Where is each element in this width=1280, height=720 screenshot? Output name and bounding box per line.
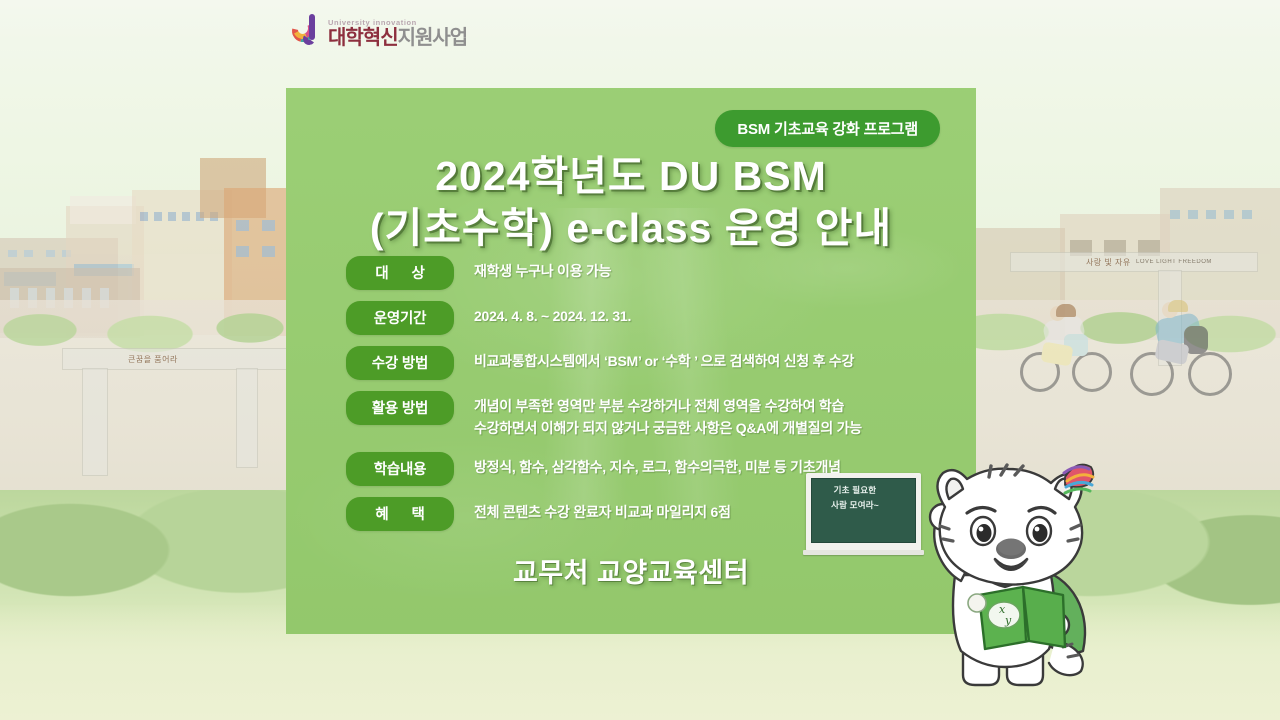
info-row: 활용 방법 개념이 부족한 영역만 부분 수강하거나 전체 영역을 수강하여 학… bbox=[346, 391, 962, 439]
blackboard-line-1: 기초 필요한 bbox=[815, 483, 895, 498]
info-row-value: 비교과통합시스템에서 ‘BSM’ or ‘수학 ’ 으로 검색하여 신청 후 수… bbox=[454, 346, 962, 373]
cyclist-right bbox=[1130, 298, 1240, 398]
book-label-y: y bbox=[1004, 614, 1012, 627]
title-line-2: (기초수학) e-class 운영 안내 bbox=[286, 202, 976, 254]
university-innovation-logo: University innovation 대학혁신지원사업 bbox=[292, 14, 467, 48]
left-gate-pillar bbox=[82, 368, 108, 476]
right-gate-sign-ko: 사랑 빛 자유 bbox=[1086, 257, 1131, 268]
info-row-value-line: 수강하면서 이해가 되지 않거나 궁금한 사항은 Q&A에 개별질의 가능 bbox=[474, 418, 962, 440]
program-badge: BSM 기초교육 강화 프로그램 bbox=[715, 110, 940, 147]
info-row-label: 수강 방법 bbox=[346, 346, 454, 380]
mascot-book: x y bbox=[979, 587, 1065, 649]
blackboard: 기초 필요한 사람 모여라~ bbox=[806, 473, 921, 551]
info-row-label: 대 상 bbox=[346, 256, 454, 290]
left-gate-sign: 큰꿈을 품어라 bbox=[128, 354, 178, 365]
info-row: 대 상 재학생 누구나 이용 가능 bbox=[346, 256, 962, 290]
white-tiger-mascot: x y bbox=[905, 455, 1120, 700]
organizer-footer: 교무처 교양교육센터 bbox=[286, 551, 976, 590]
right-campus-gate bbox=[1010, 252, 1258, 272]
info-row-value-line: 비교과통합시스템에서 ‘BSM’ or ‘수학 ’ 으로 검색하여 신청 후 수… bbox=[474, 351, 962, 373]
info-row: 수강 방법 비교과통합시스템에서 ‘BSM’ or ‘수학 ’ 으로 검색하여 … bbox=[346, 346, 962, 380]
info-row-value: 2024. 4. 8. ~ 2024. 12. 31. bbox=[454, 301, 962, 328]
info-row-value: 개념이 부족한 영역만 부분 수강하거나 전체 영역을 수강하여 학습 수강하면… bbox=[454, 391, 962, 439]
left-campus-gate bbox=[62, 348, 298, 370]
info-row: 운영기간 2024. 4. 8. ~ 2024. 12. 31. bbox=[346, 301, 962, 335]
logo-text: University innovation 대학혁신지원사업 bbox=[328, 19, 467, 49]
info-row-label: 학습내용 bbox=[346, 452, 454, 486]
info-row-label: 운영기간 bbox=[346, 301, 454, 335]
blackboard-line-2: 사람 모여라~ bbox=[815, 498, 895, 513]
info-row-value: 재학생 누구나 이용 가능 bbox=[454, 256, 962, 283]
right-gate-sign-en: LOVE LIGHT FREEDOM bbox=[1136, 259, 1212, 265]
top-fade bbox=[0, 0, 1280, 70]
u-j-logo-icon bbox=[292, 14, 322, 48]
info-row-label: 활용 방법 bbox=[346, 391, 454, 425]
logo-korean-secondary: 지원사업 bbox=[398, 27, 468, 49]
info-row-value-line: 재학생 누구나 이용 가능 bbox=[474, 261, 962, 283]
cyclist-left bbox=[1020, 300, 1120, 396]
mascot-medal bbox=[968, 594, 986, 612]
background-building bbox=[70, 196, 136, 224]
poster-canvas: 큰꿈을 품어라 사랑 빛 자유 LOVE LIGHT FREEDOM bbox=[0, 0, 1280, 720]
logo-english-text: University innovation bbox=[328, 19, 467, 27]
poster-title: 2024학년도 DU BSM (기초수학) e-class 운영 안내 bbox=[286, 150, 976, 255]
left-gate-pillar bbox=[236, 368, 258, 468]
blackboard-text: 기초 필요한 사람 모여라~ bbox=[815, 483, 895, 513]
logo-korean-primary: 대학혁신 bbox=[328, 27, 398, 49]
info-row-value-line: 개념이 부족한 영역만 부분 수강하거나 전체 영역을 수강하여 학습 bbox=[474, 396, 962, 418]
info-row-value-line: 2024. 4. 8. ~ 2024. 12. 31. bbox=[474, 306, 962, 328]
info-row-label: 혜 택 bbox=[346, 497, 454, 531]
title-line-1: 2024학년도 DU BSM bbox=[286, 150, 976, 202]
logo-korean-text: 대학혁신지원사업 bbox=[328, 28, 467, 48]
